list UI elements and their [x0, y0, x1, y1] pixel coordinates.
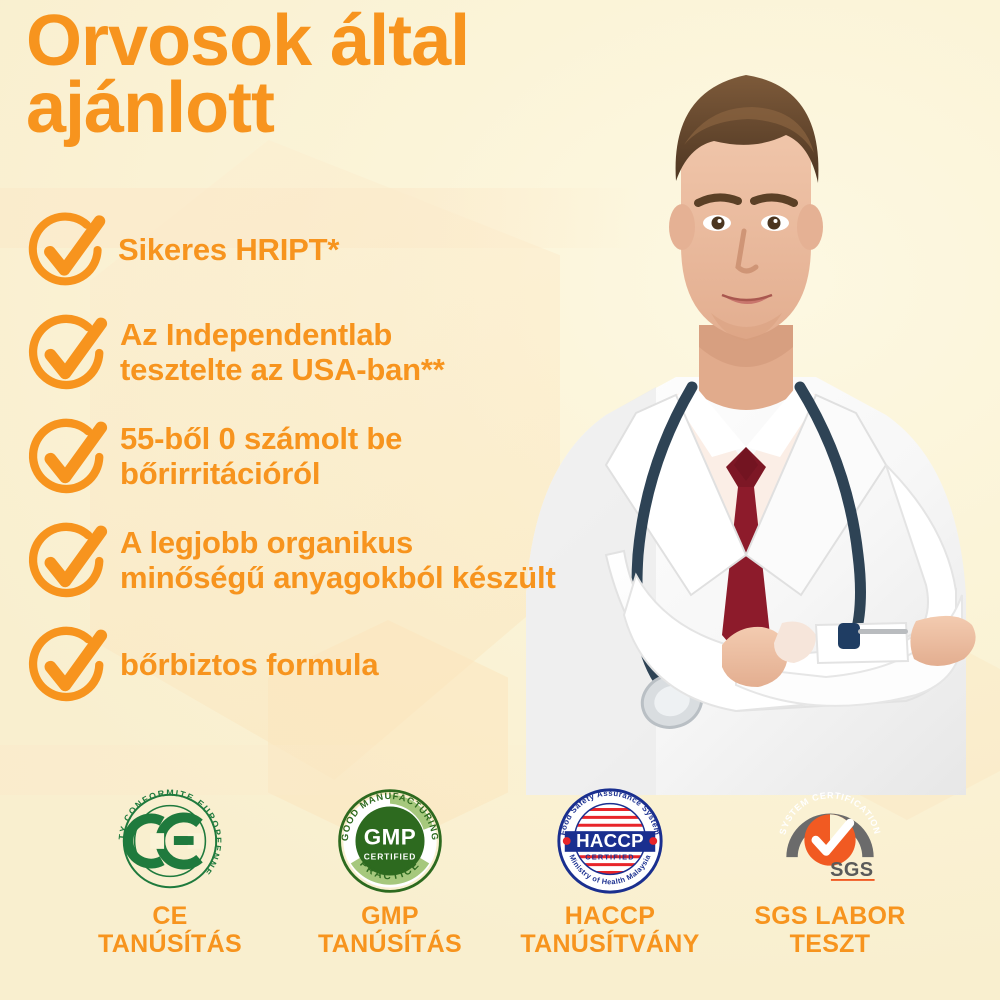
- list-item: Az Independentlab tesztelte az USA-ban**: [22, 307, 582, 399]
- svg-text:CERTIFIED: CERTIFIED: [585, 853, 634, 862]
- page-title: Orvosok által ajánlott: [26, 8, 646, 142]
- cert-label: SGS LABOR TESZT: [754, 902, 905, 958]
- list-item-label: 55-ből 0 számolt be bőrirritációról: [120, 422, 402, 491]
- headline-line-2: ajánlott: [26, 75, 646, 142]
- svg-text:SGS: SGS: [830, 859, 874, 881]
- svg-text:GMP: GMP: [364, 825, 416, 850]
- check-circle-icon: [22, 307, 114, 399]
- check-circle-icon: [22, 619, 114, 711]
- gmp-certification-badge: GMP CERTIFIED GOOD MANUFACTURING PRACTIC…: [334, 782, 446, 900]
- list-item-label: bőrbiztos formula: [120, 648, 378, 683]
- list-item-label: Az Independentlab tesztelte az USA-ban**: [120, 318, 445, 387]
- cert-gmp: GMP CERTIFIED GOOD MANUFACTURING PRACTIC…: [280, 782, 500, 958]
- haccp-certification-badge: HACCP CERTIFIED Food Safety Assurance Sy…: [551, 782, 669, 900]
- cert-label: GMP TANÚSÍTÁS: [318, 902, 462, 958]
- sgs-certification-badge: SYSTEM CERTIFICATION SGS ISO 45001: [770, 782, 890, 900]
- list-item: Sikeres HRIPT*: [22, 205, 582, 295]
- check-circle-icon: [22, 411, 114, 503]
- cert-label: CE TANÚSÍTÁS: [98, 902, 242, 958]
- certification-strip: SAFETY CONFORMITE EUROPEENNE CE TANÚSÍTÁ…: [0, 782, 1000, 992]
- check-circle-icon: [22, 205, 112, 295]
- list-item: bőrbiztos formula: [22, 619, 582, 711]
- list-item-label: Sikeres HRIPT*: [118, 233, 339, 268]
- list-item: 55-ből 0 számolt be bőrirritációról: [22, 411, 582, 503]
- svg-text:ISO 45001: ISO 45001: [770, 894, 776, 897]
- promo-banner: Orvosok által ajánlott Sikeres HRIPT*: [0, 0, 1000, 1000]
- list-item-label: A legjobb organikus minőségű anyagokból …: [120, 526, 556, 595]
- list-item: A legjobb organikus minőségű anyagokból …: [22, 515, 582, 607]
- cert-haccp: HACCP CERTIFIED Food Safety Assurance Sy…: [500, 782, 720, 958]
- feature-list: Sikeres HRIPT* Az Independentlab tesztel…: [22, 205, 582, 723]
- check-circle-icon: [22, 515, 114, 607]
- svg-text:CERTIFIED: CERTIFIED: [364, 852, 417, 862]
- ce-certification-badge: SAFETY CONFORMITE EUROPEENNE: [111, 782, 229, 900]
- svg-text:HACCP: HACCP: [576, 830, 644, 851]
- cert-sgs: SYSTEM CERTIFICATION SGS ISO 45001 SGS L…: [720, 782, 940, 958]
- headline-line-1: Orvosok által: [26, 8, 646, 75]
- cert-ce: SAFETY CONFORMITE EUROPEENNE CE TANÚSÍTÁ…: [60, 782, 280, 958]
- cert-label: HACCP TANÚSÍTVÁNY: [520, 902, 699, 958]
